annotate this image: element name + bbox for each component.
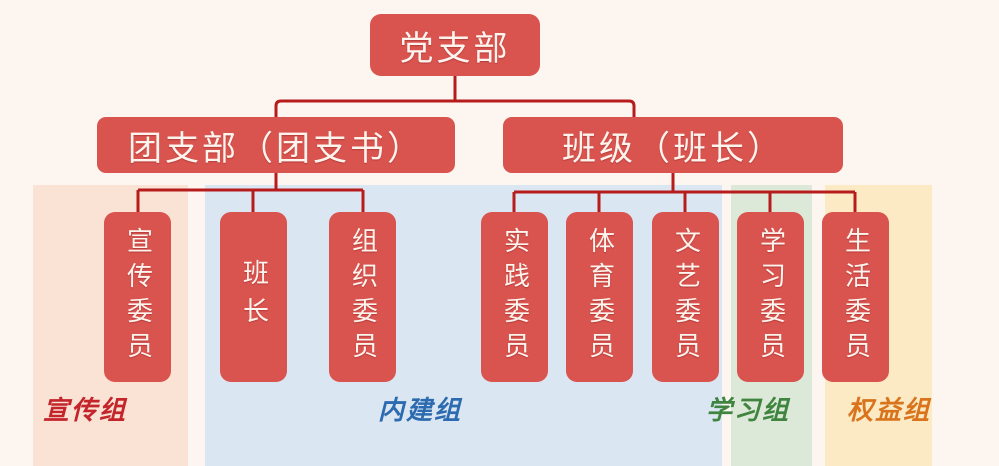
node-label: 实践委员	[502, 212, 528, 382]
node-class-monitor[interactable]: 班长	[220, 212, 287, 382]
node-label: 学习委员	[758, 212, 784, 382]
node-label: 班长	[241, 212, 267, 382]
node-label: 党支部	[400, 21, 511, 70]
node-party-branch[interactable]: 党支部	[370, 14, 540, 76]
node-league-branch[interactable]: 团支部（团支书）	[97, 117, 455, 173]
node-welfare-officer[interactable]: 生活委员	[822, 212, 889, 382]
node-sports-officer[interactable]: 体育委员	[566, 212, 633, 382]
group-label-study: 学习组	[706, 398, 790, 424]
org-chart: 党支部 团支部（团支书） 班级（班长） 宣传委员 班长 组织委员 实践委员 体育…	[0, 0, 999, 466]
node-study-officer[interactable]: 学习委员	[737, 212, 804, 382]
node-label: 生活委员	[843, 212, 869, 382]
group-label-rights: 权益组	[847, 398, 931, 424]
node-arts-officer[interactable]: 文艺委员	[652, 212, 719, 382]
node-label: 体育委员	[587, 212, 613, 382]
node-label: 文艺委员	[673, 212, 699, 382]
group-label-publicity: 宣传组	[43, 398, 127, 424]
node-label: 组织委员	[350, 212, 376, 382]
node-organization-officer[interactable]: 组织委员	[329, 212, 396, 382]
node-label: 班级（班长）	[562, 121, 784, 170]
node-label: 宣传委员	[125, 212, 151, 382]
node-practice-officer[interactable]: 实践委员	[481, 212, 548, 382]
group-label-internal: 内建组	[378, 398, 462, 424]
node-publicity-officer[interactable]: 宣传委员	[104, 212, 171, 382]
node-label: 团支部（团支书）	[128, 121, 424, 170]
node-class[interactable]: 班级（班长）	[503, 117, 843, 173]
